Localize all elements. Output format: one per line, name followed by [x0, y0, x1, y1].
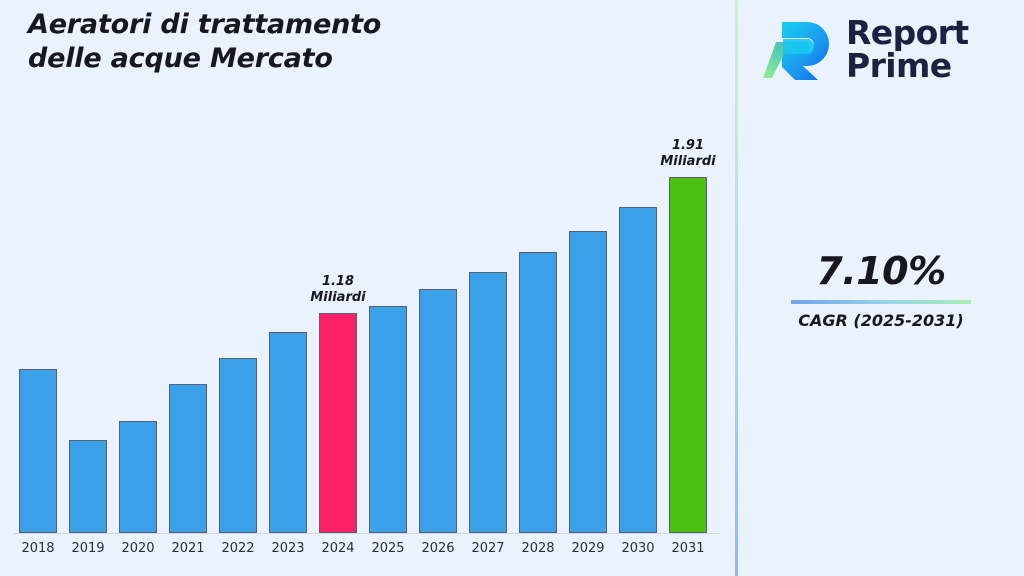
x-axis-line — [14, 533, 720, 534]
bar-2021 — [169, 384, 207, 533]
bar-2023 — [269, 332, 307, 533]
bar-2031 — [669, 177, 707, 533]
cagr-value: 7.10% — [738, 248, 1024, 294]
x-tick-label-2031: 2031 — [661, 541, 715, 557]
x-tick-label-2029: 2029 — [561, 541, 615, 557]
x-tick-label-2025: 2025 — [361, 541, 415, 557]
bar-value-label-2024: 1.18 Miliardi — [293, 274, 383, 306]
bar-2024 — [319, 313, 357, 533]
bar-2029 — [569, 231, 607, 533]
x-tick-label-2030: 2030 — [611, 541, 665, 557]
cagr-divider-rule — [791, 300, 971, 304]
chart-panel: Aeratori di trattamento delle acque Merc… — [0, 0, 736, 576]
bar-2019 — [69, 440, 107, 533]
bar-2020 — [119, 421, 157, 533]
x-tick-label-2028: 2028 — [511, 541, 565, 557]
bar-2027 — [469, 272, 507, 533]
brand-name: Report Prime — [846, 16, 969, 82]
x-tick-label-2021: 2021 — [161, 541, 215, 557]
brand-name-line2: Prime — [846, 49, 969, 82]
bar-2018 — [19, 369, 57, 533]
x-tick-label-2027: 2027 — [461, 541, 515, 557]
bar-2026 — [419, 289, 457, 533]
bar-2025 — [369, 306, 407, 533]
x-tick-label-2026: 2026 — [411, 541, 465, 557]
x-tick-label-2023: 2023 — [261, 541, 315, 557]
side-panel: Report Prime 7.10% CAGR (2025-2031) — [738, 0, 1024, 576]
brand-logo: Report Prime — [762, 12, 969, 86]
bar-2028 — [519, 252, 557, 533]
x-tick-label-2024: 2024 — [311, 541, 365, 557]
bar-value-label-2031: 1.91 Miliardi — [643, 138, 733, 170]
bar-2030 — [619, 207, 657, 533]
report-prime-monogram-icon — [762, 12, 836, 86]
x-tick-label-2018: 2018 — [11, 541, 65, 557]
x-tick-label-2019: 2019 — [61, 541, 115, 557]
infographic-canvas: Aeratori di trattamento delle acque Merc… — [0, 0, 1024, 576]
bar-chart-plot-area: 20182019202020212022202320241.18 Miliard… — [0, 0, 736, 576]
cagr-block: 7.10% CAGR (2025-2031) — [738, 248, 1024, 331]
bar-2022 — [219, 358, 257, 533]
x-tick-label-2020: 2020 — [111, 541, 165, 557]
cagr-caption: CAGR (2025-2031) — [738, 311, 1024, 331]
x-tick-label-2022: 2022 — [211, 541, 265, 557]
